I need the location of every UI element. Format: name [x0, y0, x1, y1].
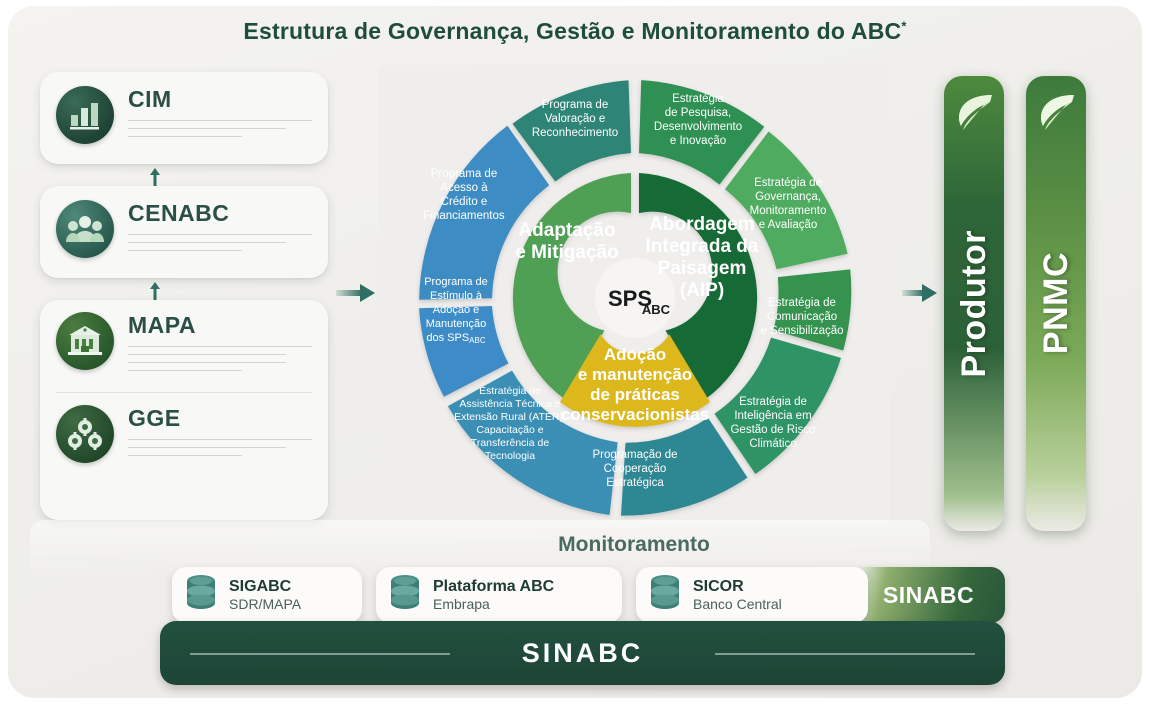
page-title-text: Estrutura de Governança, Gestão e Monito… — [243, 18, 901, 44]
svg-text:Manutenção: Manutenção — [426, 318, 487, 330]
svg-text:Adoção: Adoção — [604, 345, 666, 364]
placeholder-rule — [128, 242, 286, 243]
svg-text:e Sensibilização: e Sensibilização — [760, 325, 843, 337]
panel-produtor-label: Produtor — [955, 230, 994, 378]
panel-pnmc[interactable]: PNMC — [1026, 76, 1086, 531]
placeholder-rule — [128, 362, 286, 363]
svg-text:Adaptação: Adaptação — [518, 220, 615, 241]
group-divider — [56, 392, 312, 393]
placeholder-rule — [128, 120, 312, 121]
svg-text:Paisagem: Paisagem — [658, 258, 747, 279]
svg-text:Estratégia: Estratégia — [672, 93, 724, 105]
panel-pnmc-label-wrap: PNMC — [1026, 76, 1086, 531]
wheel-outer-label-3: Estratégia de Comunicação e Sensibilizaç… — [760, 297, 843, 337]
svg-text:Programação de: Programação de — [592, 449, 677, 461]
svg-text:Inteligência em: Inteligência em — [734, 410, 811, 422]
monitoring-card-plataforma-abc[interactable]: Plataforma ABC Embrapa — [376, 567, 622, 623]
sidebar-card-body: GGE — [128, 405, 312, 463]
arrow-wheel-to-produtor — [902, 283, 938, 308]
placeholder-rule — [128, 455, 242, 456]
svg-text:e Avaliação: e Avaliação — [759, 219, 818, 231]
panel-pnmc-label: PNMC — [1037, 252, 1076, 354]
placeholder-rule — [128, 250, 242, 251]
sinabc-badge-label: SINABC — [883, 582, 974, 609]
svg-text:de Pesquisa,: de Pesquisa, — [665, 107, 732, 119]
svg-text:Crédito e: Crédito e — [441, 196, 488, 208]
database-icon — [388, 573, 422, 618]
sidebar-item-cim[interactable]: CIM — [40, 72, 328, 164]
svg-text:e Inovação: e Inovação — [670, 135, 726, 147]
monitoring-card-text: SIGABC SDR/MAPA — [229, 578, 301, 612]
svg-text:Acesso à: Acesso à — [440, 182, 488, 194]
svg-text:Financiamentos: Financiamentos — [423, 210, 504, 222]
svg-text:Adoção e: Adoção e — [433, 304, 479, 316]
svg-text:Cooperação: Cooperação — [604, 463, 667, 475]
svg-text:e Mitigação: e Mitigação — [515, 242, 618, 263]
svg-text:Estratégia de: Estratégia de — [768, 297, 836, 309]
placeholder-rule — [128, 136, 242, 137]
database-icon — [184, 573, 218, 618]
wheel-inner-label-adaptacao: Adaptação e Mitigação — [515, 220, 618, 263]
institution-building-icon — [56, 312, 114, 370]
placeholder-rule — [128, 439, 312, 440]
monitoring-card-text: Plataforma ABC Embrapa — [433, 578, 554, 612]
svg-text:Governança,: Governança, — [755, 191, 821, 203]
svg-text:de práticas: de práticas — [590, 385, 680, 404]
placeholder-rule — [128, 370, 242, 371]
svg-text:Integrada da: Integrada da — [646, 236, 759, 257]
monitoring-card-owner: Embrapa — [433, 596, 554, 612]
svg-text:Climático: Climático — [749, 438, 796, 450]
governance-wheel: SPS ABC Adaptação e Mitigação Abordagem … — [368, 58, 903, 533]
svg-text:Comunicação: Comunicação — [767, 311, 837, 323]
svg-text:Capacitação e: Capacitação e — [476, 424, 543, 436]
placeholder-rule — [128, 346, 312, 347]
svg-text:Programa de: Programa de — [542, 99, 608, 111]
sinabc-bar: SINABC — [160, 621, 1005, 685]
placeholder-rule — [128, 234, 312, 235]
svg-text:Monitoramento: Monitoramento — [750, 205, 827, 217]
sidebar: CIM — [40, 72, 328, 520]
people-group-icon — [56, 200, 114, 258]
gears-icon — [56, 405, 114, 463]
page-title-asterisk: * — [901, 18, 906, 33]
monitoring-systems-list: SIGABC SDR/MAPA Plataforma ABC Embrapa — [172, 567, 868, 623]
svg-text:Extensão Rural (ATER),: Extensão Rural (ATER), — [454, 411, 566, 423]
svg-text:Estratégia de: Estratégia de — [754, 177, 822, 189]
sidebar-item-label: MAPA — [128, 314, 312, 337]
placeholder-rule — [128, 354, 286, 355]
sidebar-card-body: CENABC — [128, 200, 312, 258]
monitoring-card-owner: Banco Central — [693, 596, 782, 612]
svg-text:Estratégica: Estratégica — [606, 477, 664, 489]
sinabc-bar-label: SINABC — [522, 638, 644, 669]
svg-text:Assistência Técnica e: Assistência Técnica e — [459, 398, 561, 410]
placeholder-rule — [128, 128, 286, 129]
svg-text:Estratégia de: Estratégia de — [739, 396, 807, 408]
sidebar-item-label: CIM — [128, 88, 312, 111]
sinabc-badge[interactable]: SINABC — [852, 567, 1005, 623]
monitoring-card-sicor[interactable]: SICOR Banco Central — [636, 567, 868, 623]
monitoring-card-name: Plataforma ABC — [433, 578, 554, 596]
database-icon — [648, 573, 682, 618]
svg-text:Programa de: Programa de — [424, 276, 488, 288]
diagram-canvas: Estrutura de Governança, Gestão e Monito… — [0, 0, 1150, 705]
hub-label-sub: ABC — [642, 302, 671, 317]
svg-text:(AIP): (AIP) — [680, 280, 724, 301]
monitoring-card-text: SICOR Banco Central — [693, 578, 782, 612]
wheel-outer-label-0: Programa de Valoração e Reconhecimento — [532, 99, 618, 139]
svg-text:Tecnologia: Tecnologia — [485, 450, 535, 462]
sidebar-item-label: GGE — [128, 407, 312, 430]
svg-text:Estratégia de: Estratégia de — [479, 385, 541, 397]
monitoring-card-name: SICOR — [693, 578, 782, 596]
monitoring-heading: Monitoramento — [378, 533, 890, 557]
bar-chart-icon — [56, 86, 114, 144]
svg-text:Abordagem: Abordagem — [649, 214, 755, 235]
sidebar-item-cenabc[interactable]: CENABC — [40, 186, 328, 278]
bar-dash-left — [190, 653, 450, 655]
sidebar-card-body: CIM — [128, 86, 312, 144]
bar-dash-right — [715, 653, 975, 655]
wheel-outer-segment-3[interactable] — [773, 269, 851, 350]
svg-text:Valoração e: Valoração e — [545, 113, 606, 125]
monitoring-card-sigabc[interactable]: SIGABC SDR/MAPA — [172, 567, 362, 623]
sidebar-item-mapa[interactable]: MAPA — [56, 312, 312, 378]
page-title: Estrutura de Governança, Gestão e Monito… — [0, 18, 1150, 45]
panel-produtor[interactable]: Produtor — [944, 76, 1004, 531]
svg-text:Desenvolvimento: Desenvolvimento — [654, 121, 742, 133]
sidebar-group-mapa-gge: MAPA — [40, 300, 328, 520]
sidebar-item-gge[interactable]: GGE — [56, 405, 312, 463]
svg-text:Transferência de: Transferência de — [471, 437, 550, 449]
monitoring-card-owner: SDR/MAPA — [229, 596, 301, 612]
placeholder-rule — [128, 447, 286, 448]
sidebar-card-body: MAPA — [128, 312, 312, 378]
svg-text:Estímulo à: Estímulo à — [430, 290, 483, 302]
svg-text:e manutenção: e manutenção — [578, 365, 692, 384]
monitoring-card-name: SIGABC — [229, 578, 301, 596]
sidebar-item-label: CENABC — [128, 202, 312, 225]
svg-text:Reconhecimento: Reconhecimento — [532, 127, 618, 139]
panel-produtor-label-wrap: Produtor — [944, 76, 1004, 531]
svg-text:Gestão de Risco: Gestão de Risco — [730, 424, 815, 436]
svg-text:Programa de: Programa de — [431, 168, 497, 180]
svg-text:conservacionistas: conservacionistas — [561, 405, 709, 424]
